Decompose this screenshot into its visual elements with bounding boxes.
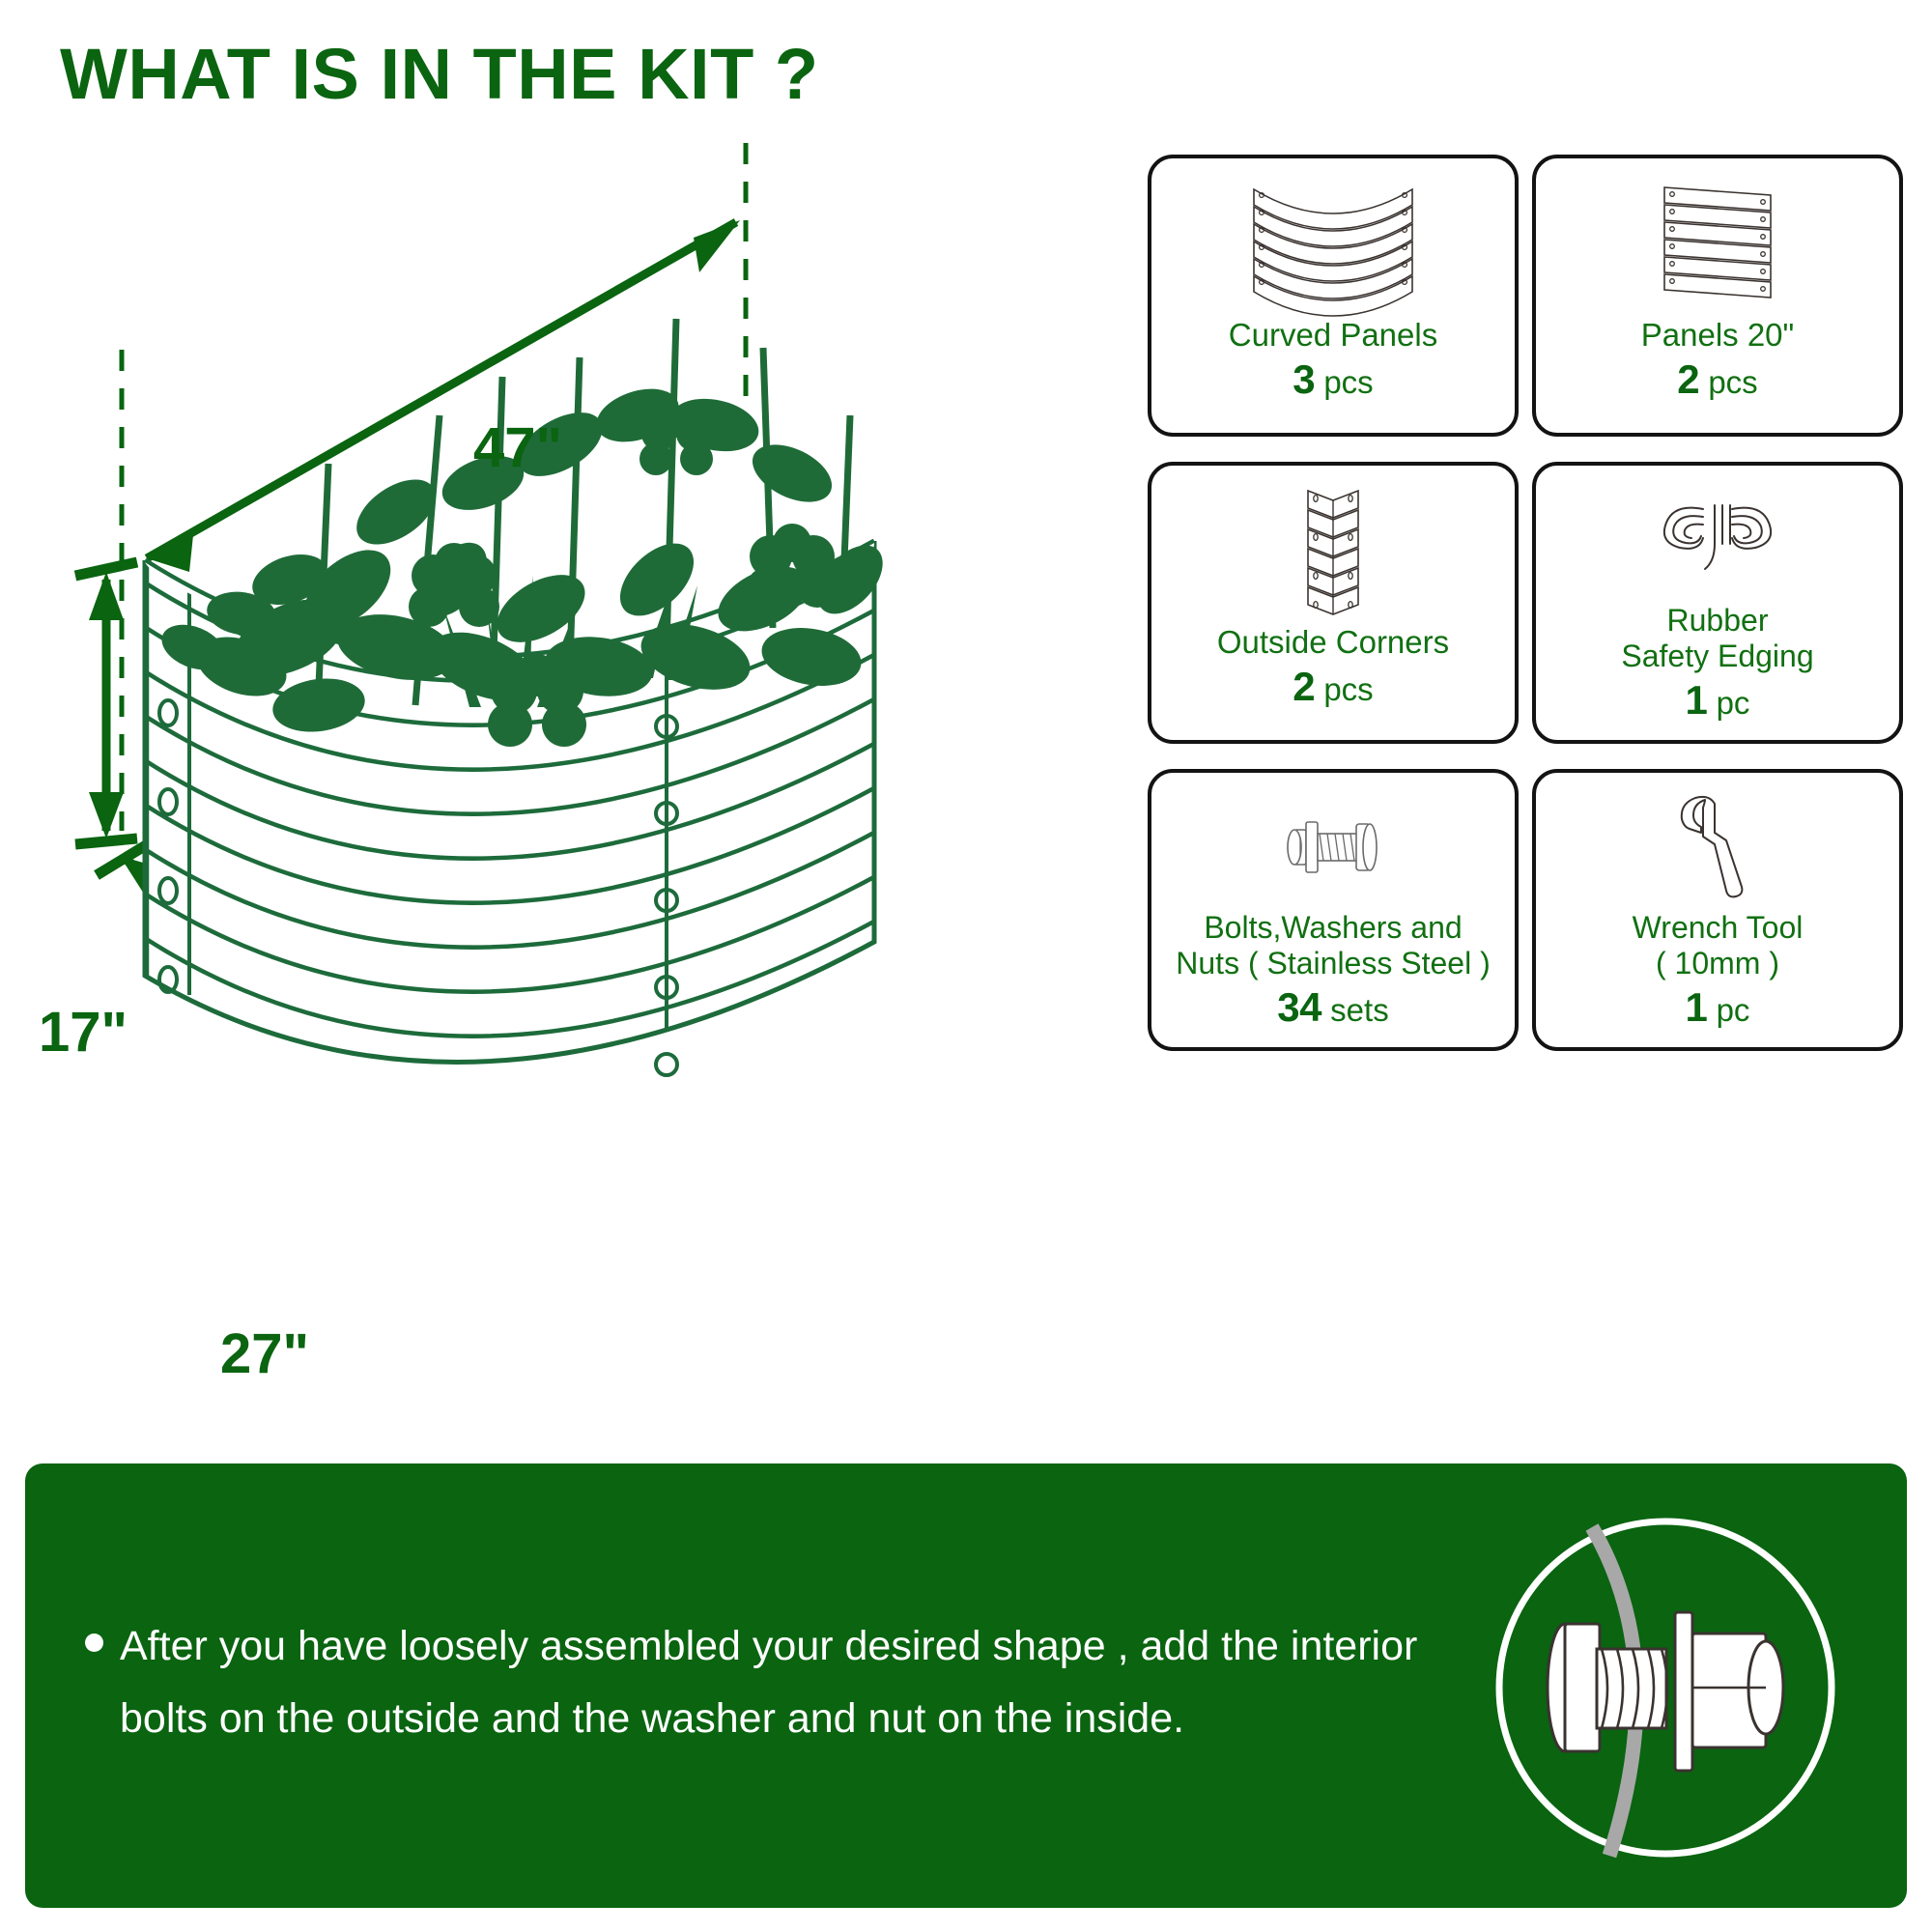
kit-card-text: Panels 20" 2 pcs bbox=[1536, 317, 1899, 402]
dimension-label-depth: 27" bbox=[220, 1321, 309, 1386]
kit-card-label: Bolts,Washers and Nuts ( Stainless Steel… bbox=[1159, 910, 1507, 981]
rubber-edging-icon bbox=[1536, 479, 1899, 603]
dimension-label-width: 47" bbox=[473, 415, 562, 480]
raised-bed-diagram: 47" 17" 27" bbox=[0, 126, 1140, 1410]
kit-card-qty-unit: pcs bbox=[1708, 364, 1757, 400]
kit-card-curved-panels[interactable]: Curved Panels 3 pcs bbox=[1148, 155, 1519, 437]
bolt-washer-nut-icon bbox=[1151, 786, 1515, 910]
raised-bed-illustration bbox=[0, 126, 1140, 1410]
flat-panel-stack-icon bbox=[1536, 172, 1899, 317]
kit-card-qty-number: 2 bbox=[1293, 664, 1315, 709]
kit-card-wrench-tool[interactable]: Wrench Tool ( 10mm ) 1 pc bbox=[1532, 769, 1903, 1051]
kit-card-text: Curved Panels 3 pcs bbox=[1151, 317, 1515, 402]
kit-card-qty-number: 1 bbox=[1686, 984, 1708, 1030]
kit-card-text: Rubber Safety Edging 1 pc bbox=[1536, 603, 1899, 723]
kit-card-qty-unit: sets bbox=[1330, 992, 1389, 1028]
instruction-text-wrapper: After you have loosely assembled your de… bbox=[85, 1610, 1457, 1756]
instruction-banner: After you have loosely assembled your de… bbox=[25, 1463, 1907, 1908]
page-title: WHAT IS IN THE KIT ? bbox=[60, 37, 819, 112]
kit-card-qty-number: 3 bbox=[1293, 356, 1315, 402]
kit-card-qty-unit: pc bbox=[1717, 685, 1750, 721]
kit-card-qty-number: 1 bbox=[1686, 677, 1708, 723]
kit-parts-grid: Curved Panels 3 pcs bbox=[1148, 155, 1911, 1054]
kit-card-qty-unit: pc bbox=[1717, 992, 1750, 1028]
kit-card-quantity: 2 pcs bbox=[1159, 665, 1507, 709]
instruction-text: After you have loosely assembled your de… bbox=[85, 1610, 1457, 1756]
kit-card-quantity: 34 sets bbox=[1159, 985, 1507, 1030]
kit-card-text: Bolts,Washers and Nuts ( Stainless Steel… bbox=[1151, 910, 1515, 1030]
kit-card-panels-20[interactable]: Panels 20" 2 pcs bbox=[1532, 155, 1903, 437]
kit-card-label: Outside Corners bbox=[1159, 624, 1507, 661]
kit-card-label: Rubber Safety Edging bbox=[1544, 603, 1891, 674]
kit-card-qty-number: 34 bbox=[1277, 984, 1321, 1030]
kit-card-qty-unit: pcs bbox=[1323, 671, 1373, 707]
bolt-through-panel-icon bbox=[1447, 1469, 1884, 1906]
kit-card-label: Wrench Tool ( 10mm ) bbox=[1544, 910, 1891, 981]
outside-corner-icon bbox=[1151, 479, 1515, 624]
kit-card-bolts-washers-nuts[interactable]: Bolts,Washers and Nuts ( Stainless Steel… bbox=[1148, 769, 1519, 1051]
kit-card-rubber-edging[interactable]: Rubber Safety Edging 1 pc bbox=[1532, 462, 1903, 744]
curved-panel-stack-icon bbox=[1151, 172, 1515, 317]
kit-card-quantity: 2 pcs bbox=[1544, 357, 1891, 402]
kit-card-qty-number: 2 bbox=[1677, 356, 1699, 402]
kit-card-quantity: 1 pc bbox=[1544, 678, 1891, 723]
kit-card-text: Wrench Tool ( 10mm ) 1 pc bbox=[1536, 910, 1899, 1030]
wrench-icon bbox=[1536, 786, 1899, 910]
kit-card-label: Panels 20" bbox=[1544, 317, 1891, 354]
kit-card-outside-corners[interactable]: Outside Corners 2 pcs bbox=[1148, 462, 1519, 744]
dimension-arrow-17 bbox=[75, 562, 137, 844]
kit-card-quantity: 3 pcs bbox=[1159, 357, 1507, 402]
kit-card-label: Curved Panels bbox=[1159, 317, 1507, 354]
kit-card-text: Outside Corners 2 pcs bbox=[1151, 624, 1515, 709]
dimension-label-height: 17" bbox=[39, 1000, 128, 1065]
kit-card-quantity: 1 pc bbox=[1544, 985, 1891, 1030]
kit-contents-infographic: WHAT IS IN THE KIT ? bbox=[0, 0, 1932, 1932]
kit-card-qty-unit: pcs bbox=[1323, 364, 1373, 400]
